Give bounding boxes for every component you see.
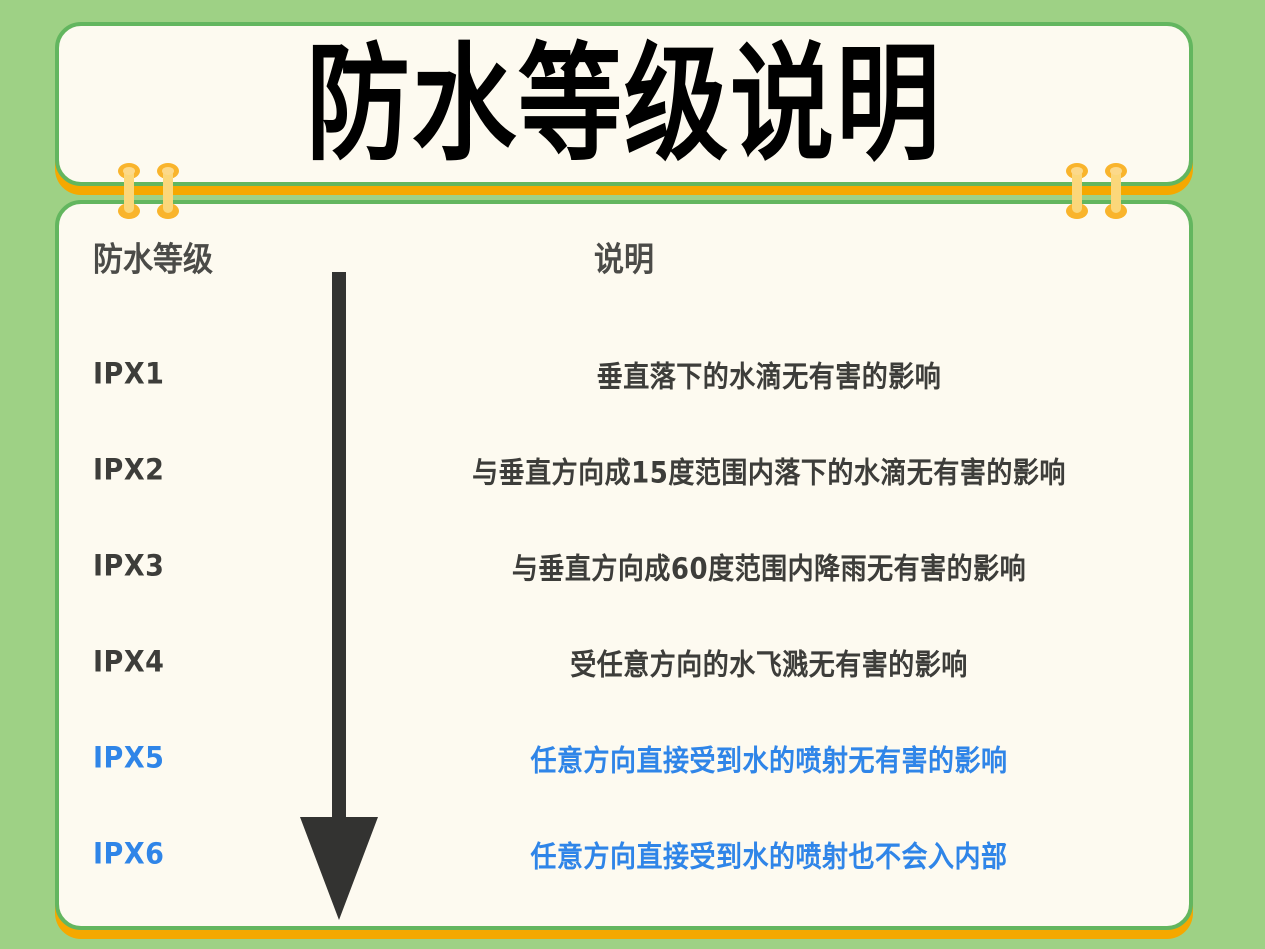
binding-clip-icon (1066, 163, 1088, 219)
table-row: IPX6 任意方向直接受到水的喷射也不会入内部 (59, 806, 1189, 902)
table-row: IPX2 与垂直方向成15度范围内落下的水滴无有害的影响 (59, 422, 1189, 518)
table-row: IPX4 受任意方向的水飞溅无有害的影响 (59, 614, 1189, 710)
table-row: IPX1 垂直落下的水滴无有害的影响 (59, 326, 1189, 422)
cell-description: 任意方向直接受到水的喷射也不会入内部 (389, 800, 1149, 908)
binding-clip-icon (118, 163, 140, 219)
table-row: IPX5 任意方向直接受到水的喷射无有害的影响 (59, 710, 1189, 806)
column-header-description: 说明 (59, 232, 1189, 280)
cell-grade: IPX4 (93, 610, 293, 714)
cell-grade: IPX6 (93, 802, 293, 906)
waterproof-rating-table: 防水等级 说明 IPX1 垂直落下的水滴无有害的影响 I (59, 204, 1189, 926)
content-card: 防水等级 说明 IPX1 垂直落下的水滴无有害的影响 I (55, 200, 1193, 930)
cell-grade: IPX5 (93, 706, 293, 810)
cell-description: 与垂直方向成15度范围内落下的水滴无有害的影响 (389, 416, 1149, 524)
cell-grade: IPX3 (93, 514, 293, 618)
cell-grade: IPX1 (93, 322, 293, 426)
binding-clip-icon (157, 163, 179, 219)
cell-description: 与垂直方向成60度范围内降雨无有害的影响 (389, 512, 1149, 620)
cell-description: 受任意方向的水飞溅无有害的影响 (389, 608, 1149, 716)
table-header-row: 防水等级 说明 (59, 234, 1189, 294)
poster-root: 防水等级说明 防水等级 说明 IPX1 (0, 0, 1265, 949)
title-card: 防水等级说明 (55, 22, 1193, 186)
cell-description: 垂直落下的水滴无有害的影响 (389, 320, 1149, 428)
table-body: IPX1 垂直落下的水滴无有害的影响 IPX2 与垂直方向成15度范围内落下的水… (59, 326, 1189, 902)
binding-clip-icon (1105, 163, 1127, 219)
page-title: 防水等级说明 (306, 41, 942, 168)
cell-grade: IPX2 (93, 418, 293, 522)
table-row: IPX3 与垂直方向成60度范围内降雨无有害的影响 (59, 518, 1189, 614)
cell-description: 任意方向直接受到水的喷射无有害的影响 (389, 704, 1149, 812)
down-arrow-icon (294, 272, 384, 924)
content-card-inner: 防水等级 说明 IPX1 垂直落下的水滴无有害的影响 I (59, 204, 1189, 926)
